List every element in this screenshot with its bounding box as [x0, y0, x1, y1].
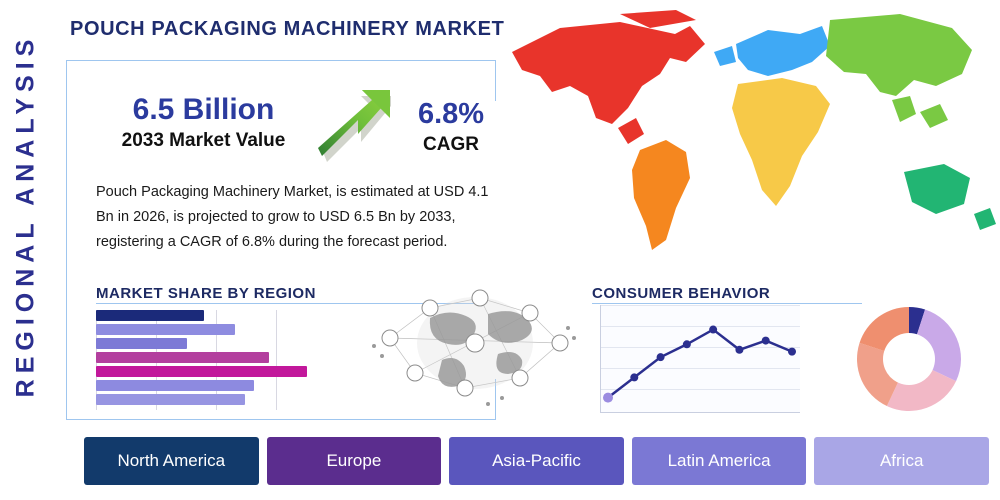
section-title-consumer-behavior: CONSUMER BEHAVIOR: [592, 285, 770, 302]
kpi-cagr: 6.8% CAGR: [396, 96, 506, 158]
map-region-africa: [732, 78, 830, 206]
region-button-europe[interactable]: Europe: [267, 437, 442, 485]
market-share-bar-chart: [96, 310, 356, 410]
line-point: [630, 373, 638, 381]
infographic-root: REGIONAL ANALYSIS POUCH PACKAGING MACHIN…: [0, 0, 1000, 500]
section-rule-consumer-behavior: [592, 303, 862, 304]
line-point: [603, 393, 613, 403]
growth-arrow-icon: [318, 88, 398, 164]
line-point: [657, 353, 665, 361]
kpi-market-value-number: 6.5 Billion: [96, 92, 311, 128]
line-point: [788, 348, 796, 356]
map-region-europe: [714, 26, 830, 76]
region-button-row[interactable]: North AmericaEuropeAsia-PacificLatin Ame…: [84, 437, 989, 485]
line-point: [683, 340, 691, 348]
global-network-icon: [370, 268, 580, 418]
bar-item: [96, 366, 307, 377]
map-region-south-america: [632, 140, 690, 250]
market-description: Pouch Packaging Machinery Market, is est…: [96, 180, 496, 255]
line-point: [762, 337, 770, 345]
bar-item: [96, 310, 204, 321]
kpi-cagr-caption: CAGR: [396, 132, 506, 158]
page-title: POUCH PACKAGING MACHINERY MARKET: [70, 18, 504, 41]
region-button-latin-america[interactable]: Latin America: [632, 437, 807, 485]
side-label: REGIONAL ANALYSIS: [0, 0, 56, 430]
map-region-asia: [826, 14, 972, 128]
line-point: [735, 346, 743, 354]
kpi-block: 6.5 Billion 2033 Market Value 6.8% CAGR: [96, 92, 496, 172]
side-label-text: REGIONAL ANALYSIS: [12, 33, 41, 397]
bar-item: [96, 338, 187, 349]
consumer-behavior-line-chart: [600, 305, 800, 413]
bar-item: [96, 324, 235, 335]
bar-item: [96, 380, 254, 391]
region-button-north-america[interactable]: North America: [84, 437, 259, 485]
region-button-africa[interactable]: Africa: [814, 437, 989, 485]
kpi-market-value: 6.5 Billion 2033 Market Value: [96, 92, 311, 154]
regional-split-donut-chart: [855, 305, 963, 413]
world-map-graphic: [500, 0, 1000, 272]
section-title-market-share: MARKET SHARE BY REGION: [96, 285, 316, 302]
map-region-north-america: [512, 10, 705, 144]
map-region-oceania: [904, 164, 996, 230]
region-button-asia-pacific[interactable]: Asia-Pacific: [449, 437, 624, 485]
kpi-market-value-caption: 2033 Market Value: [96, 128, 311, 154]
line-point: [709, 326, 717, 334]
bar-item: [96, 352, 269, 363]
kpi-cagr-number: 6.8%: [396, 96, 506, 132]
bar-item: [96, 394, 245, 405]
